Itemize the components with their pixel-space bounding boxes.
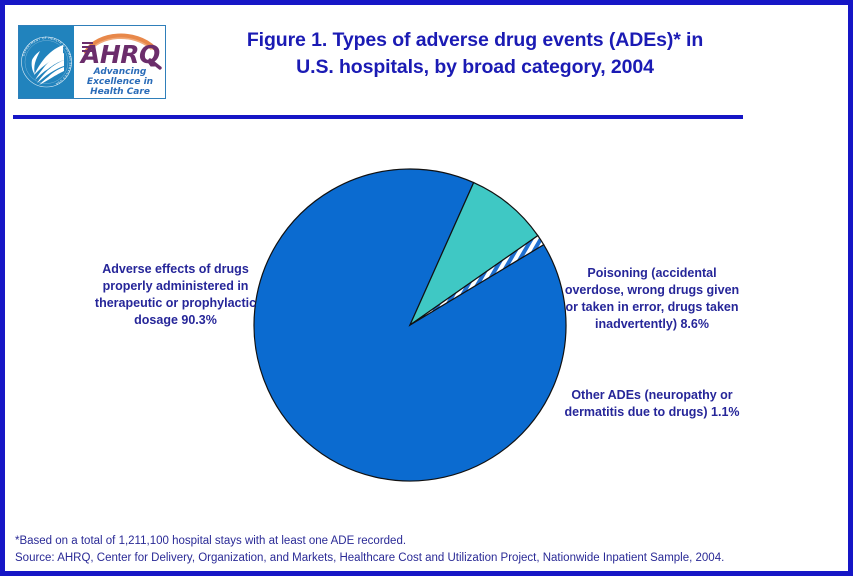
- figure-canvas: DEPARTMENT OF HEALTH & HUMAN SERVICES US…: [5, 5, 853, 581]
- logo-tagline-line1: Advancing: [93, 67, 147, 77]
- title-divider-rule: [13, 115, 743, 119]
- logo-tagline-line3: Health Care: [90, 87, 150, 97]
- ahrq-wordmark: AHRQ Advancing Excellence in Health Care: [74, 26, 165, 98]
- ahrq-hhs-logo: DEPARTMENT OF HEALTH & HUMAN SERVICES US…: [18, 25, 166, 99]
- figure-frame: DEPARTMENT OF HEALTH & HUMAN SERVICES US…: [0, 0, 853, 576]
- callout-label-other-ades: Other ADEs (neuropathy or dermatitis due…: [561, 387, 743, 421]
- figure-title: Figure 1. Types of adverse drug events (…: [175, 27, 775, 81]
- figure-footnotes: *Based on a total of 1,211,100 hospital …: [15, 533, 845, 567]
- callout-label-poisoning: Poisoning (accidental overdose, wrong dr…: [561, 265, 743, 333]
- svg-text:AHRQ: AHRQ: [79, 40, 160, 69]
- pie-chart: Adverse effects of drugs properly admini…: [5, 123, 853, 523]
- logo-tagline-line2: Excellence in: [87, 77, 153, 87]
- callout-label-adverse-effects: Adverse effects of drugs properly admini…: [93, 261, 258, 329]
- hhs-seal-icon: DEPARTMENT OF HEALTH & HUMAN SERVICES US…: [19, 26, 74, 98]
- footnote-source: Source: AHRQ, Center for Delivery, Organ…: [15, 550, 845, 567]
- figure-title-line-1: Figure 1. Types of adverse drug events (…: [247, 29, 703, 51]
- figure-title-line-2: U.S. hospitals, by broad category, 2004: [175, 54, 775, 81]
- footnote-basis: *Based on a total of 1,211,100 hospital …: [15, 533, 845, 550]
